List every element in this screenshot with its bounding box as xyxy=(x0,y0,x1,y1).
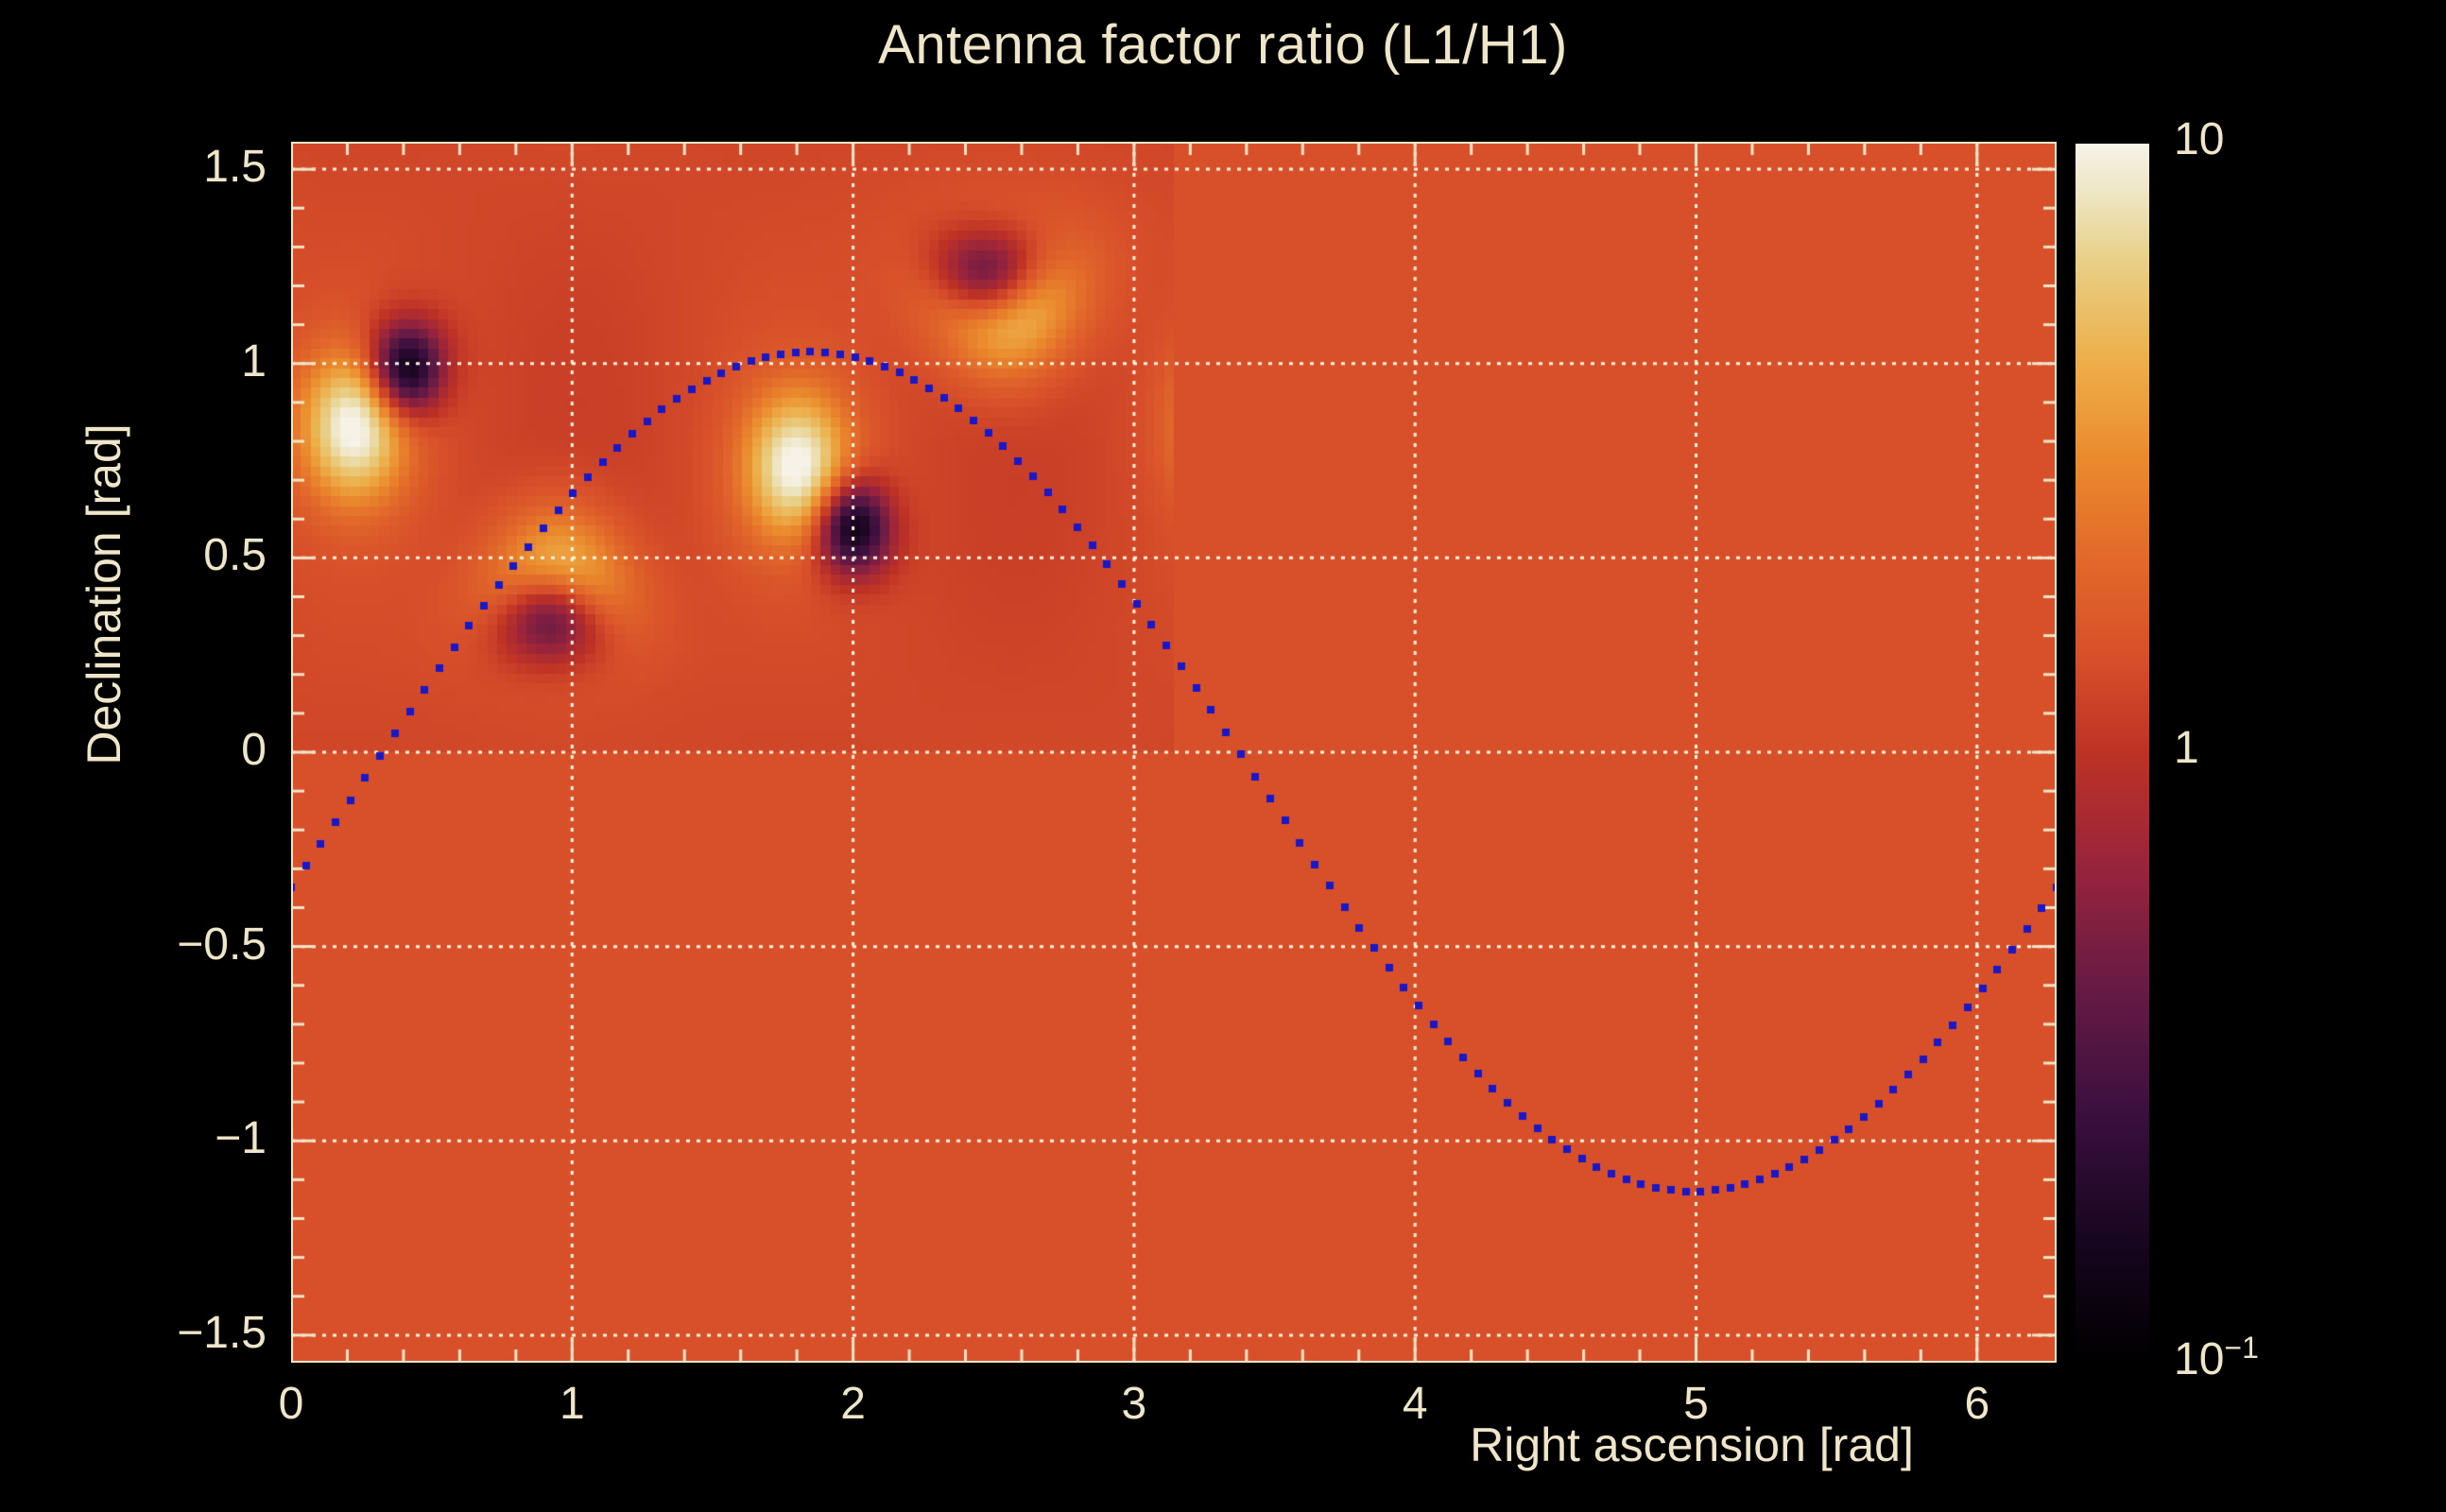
y-tick-label: −0.5 xyxy=(177,919,267,971)
colorbar-minor-tick xyxy=(2149,327,2165,330)
y-tick-label: 1.5 xyxy=(203,141,267,193)
x-tick-label: 3 xyxy=(1077,1378,1191,1430)
y-tick-label: 0 xyxy=(241,724,267,776)
colorbar-major-tick xyxy=(2149,1361,2170,1364)
colorbar-minor-tick xyxy=(2149,462,2165,465)
colorbar-minor-tick xyxy=(2149,1071,2165,1074)
colorbar-tick-label: 1 xyxy=(2174,722,2199,774)
colorbar-minor-tick xyxy=(2149,887,2165,890)
y-axis-title: Declination [rad] xyxy=(77,311,131,878)
grid-and-curve-overlay xyxy=(291,142,2057,1363)
page-title: Antenna factor ratio (L1/H1) xyxy=(0,13,2446,77)
colorbar[interactable] xyxy=(2076,144,2149,1361)
x-tick-label: 2 xyxy=(797,1378,910,1430)
colorbar-tick-marks xyxy=(2149,144,2170,1361)
colorbar-minor-tick xyxy=(2149,386,2165,388)
x-tick-label: 1 xyxy=(515,1378,629,1430)
colorbar-minor-tick xyxy=(2149,202,2165,205)
y-tick-label: 0.5 xyxy=(203,529,267,581)
heatmap-plot-area[interactable] xyxy=(291,142,2057,1363)
colorbar-minor-tick xyxy=(2149,811,2165,814)
colorbar-major-tick xyxy=(2149,144,2170,146)
colorbar-minor-tick xyxy=(2149,847,2165,850)
colorbar-minor-tick xyxy=(2149,569,2165,572)
colorbar-tick-label: 10−1 xyxy=(2174,1331,2259,1385)
y-tick-label: 1 xyxy=(241,335,267,387)
y-tick-label: −1.5 xyxy=(177,1307,267,1359)
colorbar-gradient xyxy=(2076,144,2149,1361)
colorbar-minor-tick xyxy=(2149,171,2165,174)
x-axis-title: Right ascension [rad] xyxy=(1323,1417,2060,1472)
colorbar-minor-tick xyxy=(2149,994,2165,997)
y-tick-label: −1 xyxy=(215,1112,267,1164)
colorbar-minor-tick xyxy=(2149,780,2165,782)
colorbar-tick-label: 10 xyxy=(2174,113,2224,165)
colorbar-minor-tick xyxy=(2149,279,2165,282)
colorbar-minor-tick xyxy=(2149,936,2165,938)
colorbar-major-tick xyxy=(2149,752,2170,755)
colorbar-minor-tick xyxy=(2149,1177,2165,1180)
colorbar-minor-tick xyxy=(2149,238,2165,241)
figure-root: Antenna factor ratio (L1/H1) 1.510.50−0.… xyxy=(0,0,2446,1512)
x-tick-label: 0 xyxy=(234,1378,348,1430)
